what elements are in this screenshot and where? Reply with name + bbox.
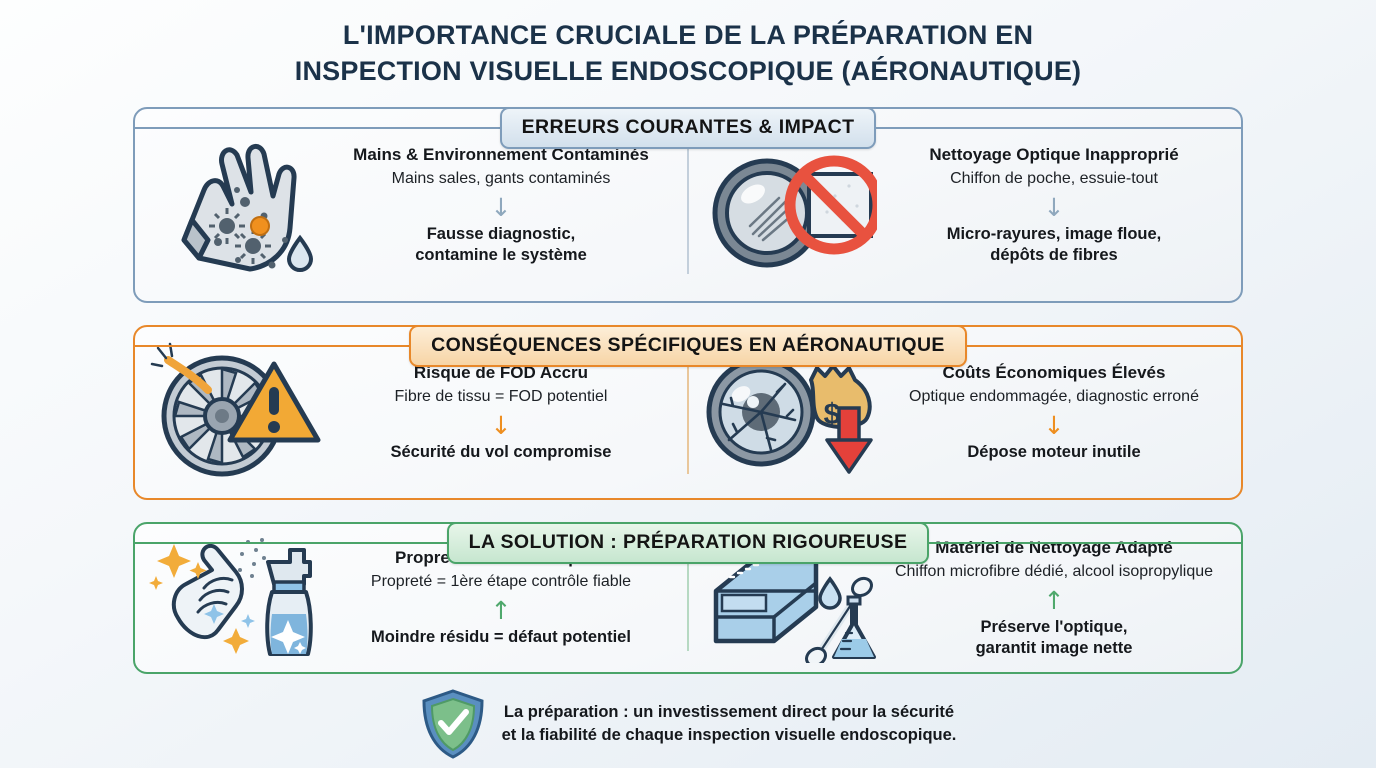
- item-outcome-line1: Préserve l'optique,: [881, 617, 1227, 638]
- footer-conclusion: La préparation : un investissement direc…: [0, 688, 1376, 760]
- section3-item-right-text: Matériel de Nettoyage Adapté Chiffon mic…: [881, 537, 1233, 659]
- item-subtext: Propreté = 1ère étape contrôle fiable: [328, 572, 674, 593]
- item-outcome-line2: contamine le système: [328, 245, 674, 266]
- item-outcome-line1: Sécurité du vol compromise: [328, 442, 674, 463]
- footer-line-1: La préparation : un investissement direc…: [502, 701, 957, 724]
- section-erreurs-courantes: ERREURS COURANTES & IMPACT: [133, 107, 1243, 303]
- up-arrow-icon: ↑: [881, 588, 1227, 613]
- section2-heading-pill: CONSÉQUENCES SPÉCIFIQUES EN AÉRONAUTIQUE: [409, 325, 967, 367]
- item-heading: Matériel de Nettoyage Adapté: [881, 537, 1227, 558]
- section1-item-right-text: Nettoyage Optique Inapproprié Chiffon de…: [881, 144, 1233, 266]
- shield-check-icon: [420, 688, 486, 760]
- section2-item-left-text: Risque de FOD Accru Fibre de tissu = FOD…: [328, 362, 680, 463]
- down-arrow-icon: ↓: [328, 413, 674, 438]
- item-subtext: Fibre de tissu = FOD potentiel: [328, 387, 674, 408]
- item-outcome-line2: dépôts de fibres: [881, 245, 1227, 266]
- page-title: L'IMPORTANCE CRUCIALE DE LA PRÉPARATION …: [0, 0, 1376, 90]
- section-solution: LA SOLUTION : PRÉPARATION RIGOUREUSE: [133, 522, 1243, 674]
- item-subtext: Mains sales, gants contaminés: [328, 169, 674, 190]
- section2-item-right-text: Coûts Économiques Élevés Optique endomma…: [881, 362, 1233, 463]
- title-line-1: L'IMPORTANCE CRUCIALE DE LA PRÉPARATION …: [0, 18, 1376, 54]
- clean-hands-spray-icon: [143, 532, 328, 664]
- contaminated-glove-icon: [143, 130, 328, 280]
- footer-line-2: et la fiabilité de chaque inspection vis…: [502, 724, 957, 747]
- item-subtext: Optique endommagée, diagnostic erroné: [881, 387, 1227, 408]
- section-consequences: CONSÉQUENCES SPÉCIFIQUES EN AÉRONAUTIQUE: [133, 325, 1243, 500]
- item-heading: Nettoyage Optique Inapproprié: [881, 144, 1227, 165]
- scratched-lens-no-tissue-icon: [696, 130, 881, 280]
- item-outcome-line2: garantit image nette: [881, 638, 1227, 659]
- down-arrow-icon: ↓: [881, 195, 1227, 220]
- down-arrow-icon: ↓: [881, 413, 1227, 438]
- item-outcome-line1: Dépose moteur inutile: [881, 442, 1227, 463]
- footer-text: La préparation : un investissement direc…: [502, 701, 957, 747]
- item-subtext: Chiffon de poche, essuie-tout: [881, 169, 1227, 190]
- down-arrow-icon: ↓: [328, 195, 674, 220]
- item-subtext: Chiffon microfibre dédié, alcool isoprop…: [881, 562, 1227, 583]
- section3-heading-pill: LA SOLUTION : PRÉPARATION RIGOUREUSE: [447, 522, 930, 564]
- section1-item-left-text: Mains & Environnement Contaminés Mains s…: [328, 144, 680, 266]
- up-arrow-icon: ↑: [328, 598, 674, 623]
- item-outcome-line1: Moindre résidu = défaut potentiel: [328, 627, 674, 648]
- item-outcome-line1: Fausse diagnostic,: [328, 224, 674, 245]
- title-line-2: INSPECTION VISUELLE ENDOSCOPIQUE (AÉRONA…: [0, 54, 1376, 90]
- section1-heading-pill: ERREURS COURANTES & IMPACT: [500, 107, 877, 149]
- item-outcome-line1: Micro-rayures, image floue,: [881, 224, 1227, 245]
- turbine-warning-icon: [143, 342, 328, 482]
